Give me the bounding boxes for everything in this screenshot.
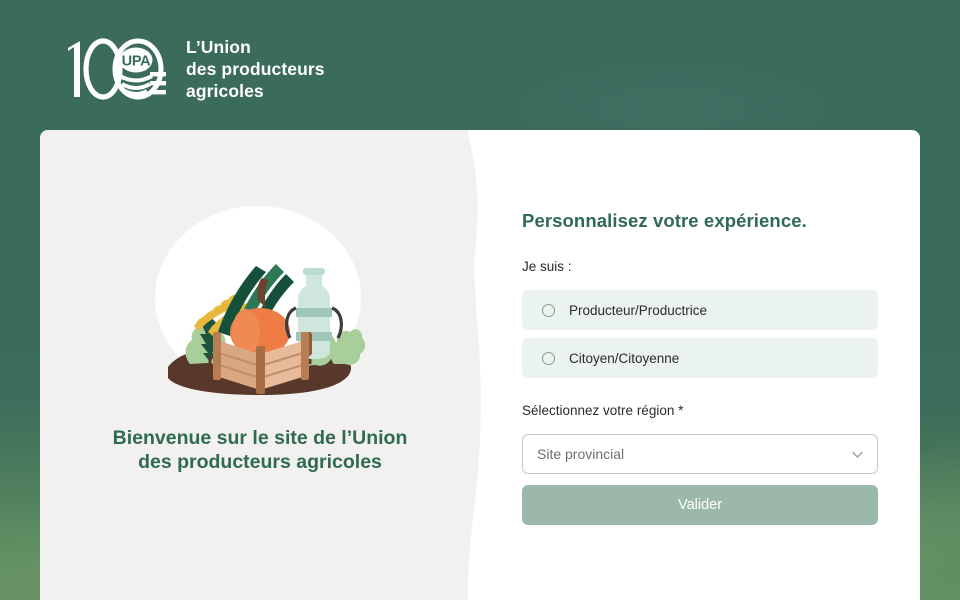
form-title: Personnalisez votre expérience. [522, 210, 807, 232]
upa-100-anniversary-logo-icon: UPA [62, 38, 170, 100]
welcome-panel: Bienvenue sur le site de l’Union des pro… [40, 130, 480, 600]
login-page-background: UPA L’Union des producteurs agricoles [0, 0, 960, 600]
chevron-down-icon[interactable] [850, 447, 865, 462]
radio-circle-icon[interactable] [542, 352, 555, 365]
role-radio-group: Producteur/Productrice Citoyen/Citoyenne [522, 290, 878, 378]
welcome-heading: Bienvenue sur le site de l’Union des pro… [110, 426, 410, 474]
role-option-citoyen[interactable]: Citoyen/Citoyenne [522, 338, 878, 378]
role-option-producteur[interactable]: Producteur/Productrice [522, 290, 878, 330]
role-label: Je suis : [522, 259, 572, 274]
svg-text:UPA: UPA [122, 54, 151, 70]
farm-crate-vegetables-milk-can-illustration-icon [150, 204, 370, 404]
region-select[interactable]: Site provincial [522, 434, 878, 474]
radio-circle-icon[interactable] [542, 304, 555, 317]
submit-button[interactable]: Valider [522, 485, 878, 525]
role-option-label: Citoyen/Citoyenne [569, 351, 679, 366]
personalization-form: Personnalisez votre expérience. Je suis … [522, 130, 920, 600]
region-label: Sélectionnez votre région * [522, 403, 683, 418]
onboarding-card: Bienvenue sur le site de l’Union des pro… [40, 130, 920, 600]
role-option-label: Producteur/Productrice [569, 303, 707, 318]
brand-logo[interactable]: UPA L’Union des producteurs agricoles [62, 36, 325, 103]
brand-wordmark: L’Union des producteurs agricoles [186, 36, 325, 103]
region-select-value: Site provincial [537, 446, 624, 462]
